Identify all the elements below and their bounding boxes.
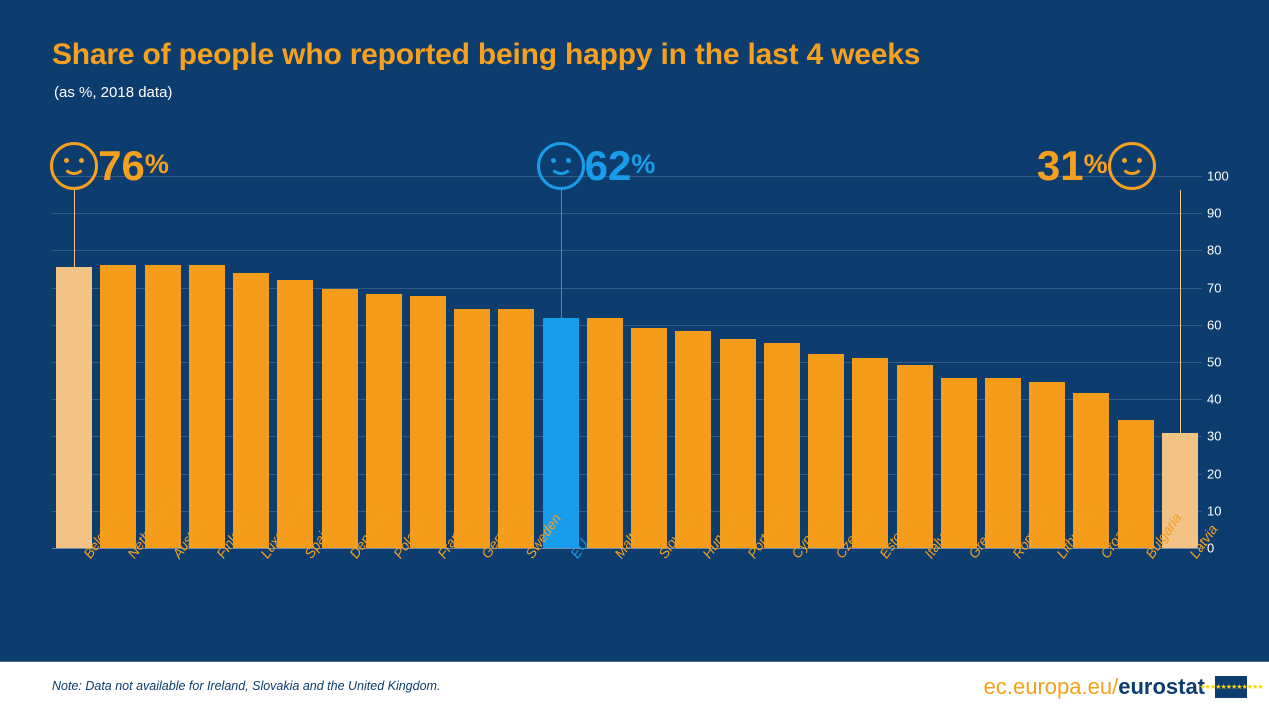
smile-mouth-icon	[549, 159, 573, 175]
callout-percent-sign: %	[1084, 151, 1108, 181]
callout-stem	[561, 190, 562, 318]
y-tick-50: 50	[1207, 355, 1221, 370]
y-tick-40: 40	[1207, 392, 1221, 407]
callout-percent-sign: %	[631, 151, 655, 181]
bar-denmark	[322, 289, 358, 548]
bar-slovenia	[631, 328, 667, 548]
eurostat-brand: ec.europa.eu/eurostat	[984, 674, 1205, 700]
x-axis-labels: BelgiumNetherlandsAustriaFinlandLuxembou…	[52, 552, 1202, 662]
bar-germany	[454, 309, 490, 548]
y-tick-90: 90	[1207, 206, 1221, 221]
callout-value: 62	[585, 145, 632, 187]
smiley-face-icon	[1108, 142, 1156, 190]
bar-malta	[587, 318, 623, 548]
callout-stem	[74, 190, 75, 267]
bar-france	[410, 296, 446, 548]
infographic-canvas: Share of people who reported being happy…	[0, 0, 1269, 714]
bar-finland	[189, 265, 225, 548]
y-tick-10: 10	[1207, 503, 1221, 518]
smiley-face-icon	[537, 142, 585, 190]
bar-netherlands	[100, 265, 136, 548]
eu-flag-stars: ★★★★★★★★★★★★	[1199, 683, 1262, 691]
y-tick-80: 80	[1207, 243, 1221, 258]
bar-greece	[941, 378, 977, 548]
callout-value: 76	[98, 145, 145, 187]
y-tick-30: 30	[1207, 429, 1221, 444]
bar-belgium	[56, 267, 92, 548]
callout-stem	[1180, 190, 1181, 433]
y-tick-100: 100	[1207, 169, 1229, 184]
page-subtitle: (as %, 2018 data)	[54, 84, 172, 101]
smiley-face-icon	[50, 142, 98, 190]
page-title: Share of people who reported being happy…	[52, 38, 920, 72]
footer: Note: Data not available for Ireland, Sl…	[0, 662, 1269, 714]
callout-value: 31	[1037, 145, 1084, 187]
y-tick-60: 60	[1207, 317, 1221, 332]
brand-prefix: ec.europa.eu/	[984, 674, 1119, 699]
y-axis-labels: 0102030405060708090100	[1207, 176, 1247, 548]
chart-bars	[52, 176, 1202, 548]
eu-flag-icon: ★★★★★★★★★★★★	[1215, 676, 1247, 698]
bar-luxembourg	[233, 273, 269, 548]
brand-name: eurostat	[1118, 674, 1205, 699]
callout-percent-sign: %	[145, 151, 169, 181]
y-tick-20: 20	[1207, 466, 1221, 481]
smile-mouth-icon	[62, 159, 86, 175]
smile-mouth-icon	[1120, 159, 1144, 175]
footnote: Note: Data not available for Ireland, Sl…	[52, 679, 440, 693]
y-tick-70: 70	[1207, 280, 1221, 295]
